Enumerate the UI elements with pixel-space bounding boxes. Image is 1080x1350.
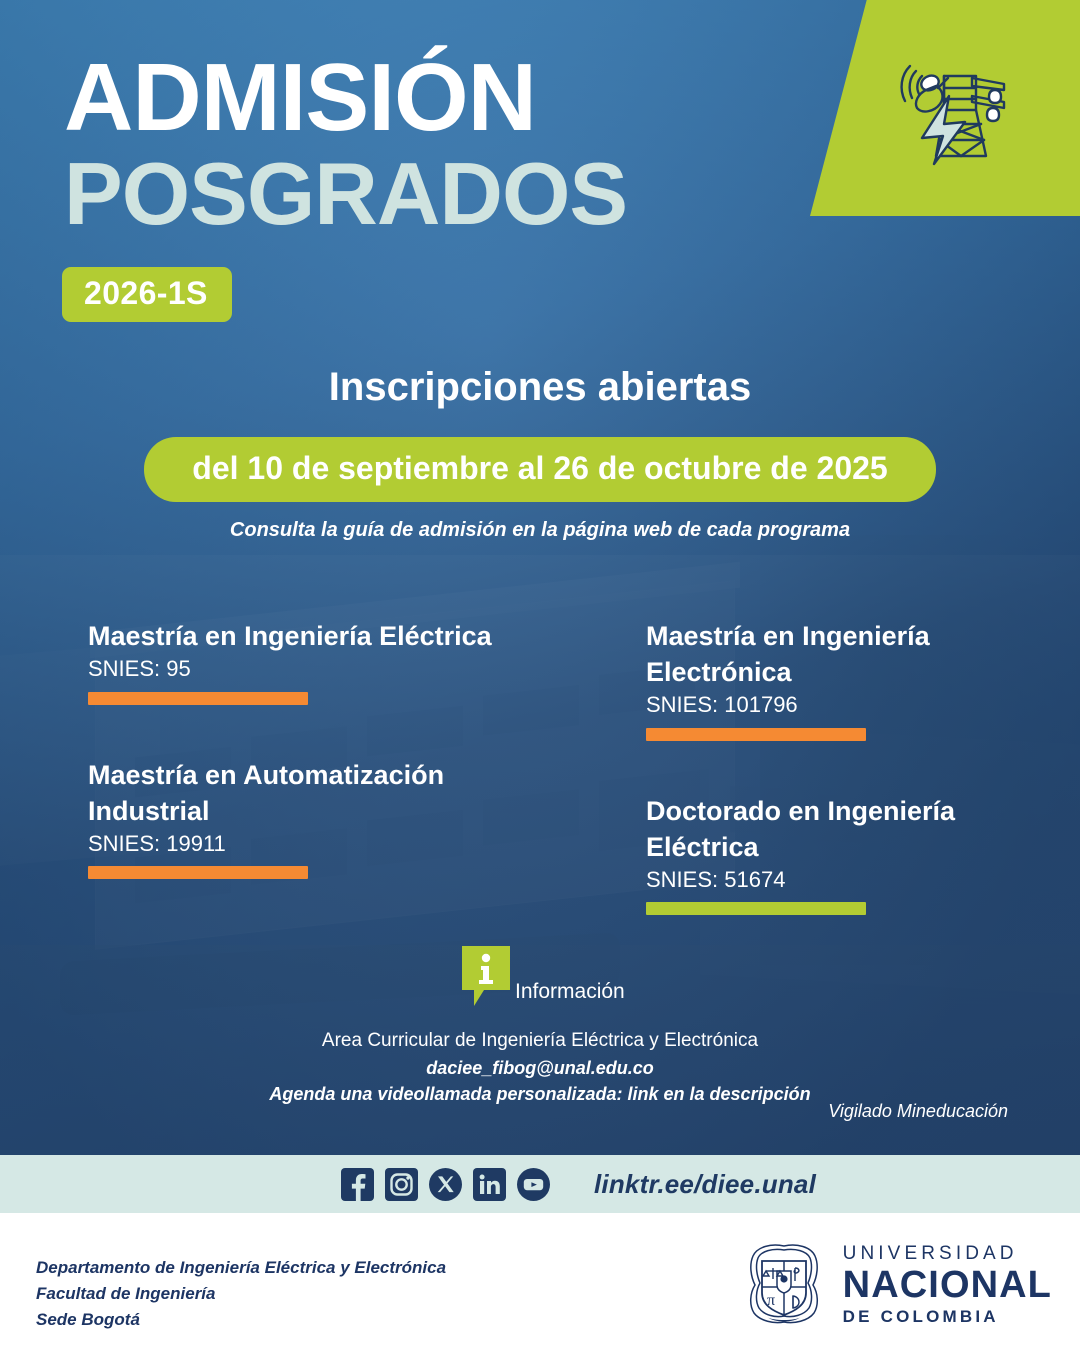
unal-shield-icon: π — [741, 1241, 827, 1327]
unal-logo: π UNIVERSIDAD NACIONAL DE COLOMBIA — [741, 1241, 1052, 1327]
contact-email[interactable]: daciee_fibog@unal.edu.co — [0, 1055, 1080, 1081]
program-rule — [646, 902, 866, 915]
linktree-url[interactable]: linktr.ee/diee.unal — [594, 1169, 816, 1200]
program-item[interactable]: Maestría en Ingeniería Eléctrica SNIES: … — [88, 618, 518, 705]
facebook-icon[interactable] — [341, 1168, 374, 1201]
instagram-icon[interactable] — [385, 1168, 418, 1201]
footer-line2: Facultad de Ingeniería — [36, 1281, 446, 1307]
transmission-tower-icon — [886, 52, 1018, 172]
programs-column-right: Maestría en Ingeniería Electrónica SNIES… — [646, 618, 1066, 915]
announcement-headline: Inscripciones abiertas — [0, 365, 1080, 410]
program-item[interactable]: Maestría en Ingeniería Electrónica SNIES… — [646, 618, 1066, 741]
unal-word-universidad: UNIVERSIDAD — [843, 1244, 1052, 1263]
page-title-line2: POSGRADOS — [64, 152, 627, 236]
info-bubble-icon — [462, 946, 510, 1008]
unal-word-de-colombia: DE COLOMBIA — [843, 1308, 1052, 1325]
program-rule — [88, 692, 308, 705]
programs-column-left: Maestría en Ingeniería Eléctrica SNIES: … — [88, 618, 518, 879]
program-name: Maestría en Ingeniería Eléctrica — [88, 618, 518, 654]
poster-root: ADMISIÓN POSGRADOS 2026-1S Inscripciones… — [0, 0, 1080, 1350]
announcement-note: Consulta la guía de admisión en la págin… — [0, 519, 1080, 542]
program-snies: SNIES: 51674 — [646, 867, 1066, 893]
vigilado-notice: Vigilado Mineducación — [828, 1101, 1008, 1122]
info-label: Información — [515, 980, 625, 1004]
program-name: Maestría en Ingeniería Electrónica — [646, 618, 1066, 690]
contact-block: Area Curricular de Ingeniería Eléctrica … — [0, 1028, 1080, 1108]
program-name: Doctorado en Ingeniería Eléctrica — [646, 793, 1066, 865]
program-item[interactable]: Maestría en Automatización Industrial SN… — [88, 757, 518, 880]
program-rule — [88, 866, 308, 879]
contact-org: Area Curricular de Ingeniería Eléctrica … — [0, 1028, 1080, 1055]
linkedin-icon[interactable] — [473, 1168, 506, 1201]
footer-department: Departamento de Ingeniería Eléctrica y E… — [36, 1255, 446, 1332]
date-range-pill: del 10 de septiembre al 26 de octubre de… — [144, 437, 936, 502]
social-icons — [341, 1168, 550, 1201]
footer-line3: Sede Bogotá — [36, 1307, 446, 1333]
program-rule — [646, 728, 866, 741]
youtube-icon[interactable] — [517, 1168, 550, 1201]
program-item[interactable]: Doctorado en Ingeniería Eléctrica SNIES:… — [646, 793, 1066, 916]
program-snies: SNIES: 95 — [88, 656, 518, 682]
x-twitter-icon[interactable] — [429, 1168, 462, 1201]
footer: Departamento de Ingeniería Eléctrica y E… — [0, 1213, 1080, 1350]
page-title-line1: ADMISIÓN — [64, 52, 536, 144]
program-snies: SNIES: 101796 — [646, 692, 1066, 718]
social-bar: linktr.ee/diee.unal — [0, 1155, 1080, 1213]
footer-line1: Departamento de Ingeniería Eléctrica y E… — [36, 1255, 446, 1281]
program-name: Maestría en Automatización Industrial — [88, 757, 518, 829]
program-snies: SNIES: 19911 — [88, 831, 518, 857]
unal-word-nacional: NACIONAL — [843, 1266, 1052, 1304]
svg-text:π: π — [767, 1292, 775, 1309]
term-badge: 2026-1S — [62, 267, 232, 322]
unal-wordmark: UNIVERSIDAD NACIONAL DE COLOMBIA — [843, 1244, 1052, 1325]
